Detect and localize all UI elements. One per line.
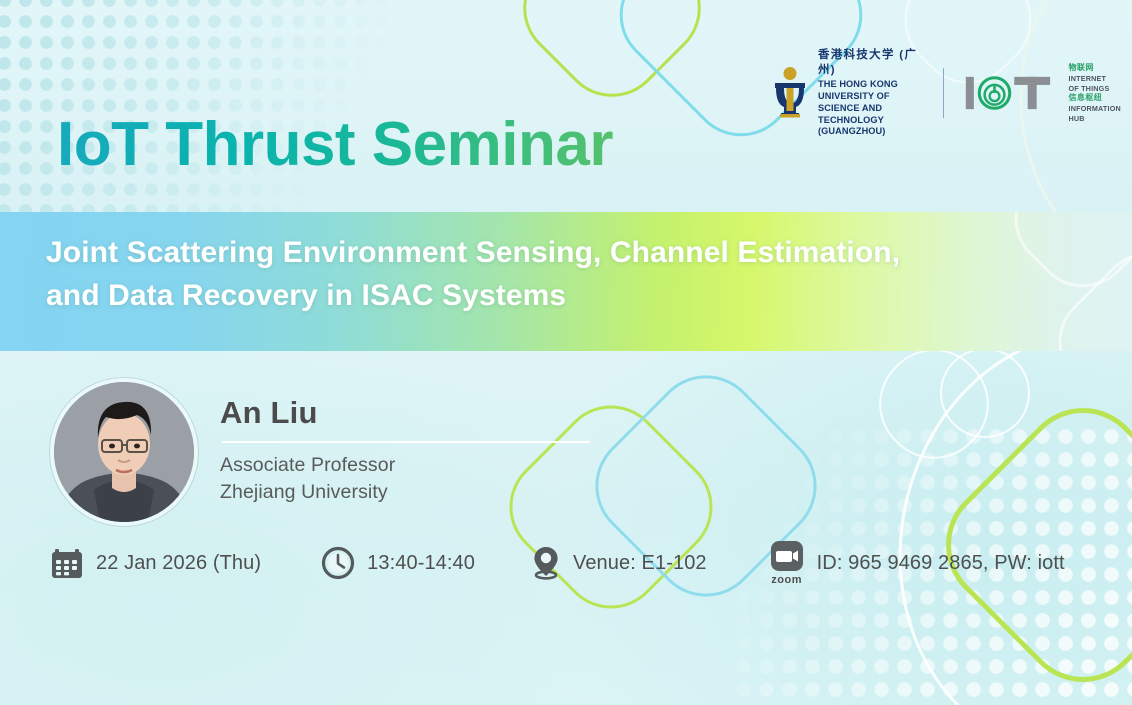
iot-en-line-1: INTERNET <box>1069 74 1107 83</box>
logo-divider <box>943 68 944 118</box>
event-venue-label: Venue: E1-102 <box>573 552 707 575</box>
series-title: IoT Thrust Seminar <box>57 112 613 177</box>
hkust-emblem-icon <box>772 66 808 120</box>
speaker-details: An Liu Associate Professor Zhejiang Univ… <box>220 378 590 526</box>
hkust-name-en-2: UNIVERSITY OF SCIENCE AND <box>818 91 890 113</box>
talk-title-line-1: Joint Scattering Environment Sensing, Ch… <box>46 236 900 269</box>
event-zoom: zoom ID: 965 9469 2865, PW: iott <box>769 540 1065 586</box>
iot-cn-line-2: 信息枢纽 <box>1069 93 1103 102</box>
logo-row: 香港科技大学 (广州) THE HONG KONG UNIVERSITY OF … <box>772 48 1132 138</box>
talk-title-line-2: and Data Recovery in ISAC Systems <box>46 279 566 312</box>
calendar-icon <box>50 546 84 580</box>
hkust-name-en-1: THE HONG KONG <box>818 79 898 89</box>
iot-hub-logo: 物联网 INTERNET OF THINGS 信息枢纽 INFORMATION … <box>964 63 1132 123</box>
event-details-row: 22 Jan 2026 (Thu) 13:40-14:40 <box>50 540 1065 586</box>
speaker-portrait-icon <box>54 382 194 522</box>
iot-en-line-2: OF THINGS <box>1069 84 1110 93</box>
event-time: 13:40-14:40 <box>321 546 475 580</box>
hkust-name-cn: 香港科技大学 (广州) <box>818 48 923 78</box>
event-date-label: 22 Jan 2026 (Thu) <box>96 552 261 575</box>
hkust-wordmark: 香港科技大学 (广州) THE HONG KONG UNIVERSITY OF … <box>818 48 923 138</box>
zoom-wordmark: zoom <box>771 574 802 586</box>
event-date: 22 Jan 2026 (Thu) <box>50 546 261 580</box>
event-time-label: 13:40-14:40 <box>367 552 475 575</box>
iot-wordmark-icon <box>964 71 1061 115</box>
iot-hub-tagline: 物联网 INTERNET OF THINGS 信息枢纽 INFORMATION … <box>1069 63 1132 123</box>
hkust-logo: 香港科技大学 (广州) THE HONG KONG UNIVERSITY OF … <box>772 48 923 138</box>
clock-icon <box>321 546 355 580</box>
location-pin-icon <box>531 545 561 581</box>
speaker-affiliation: Zhejiang University <box>220 481 388 503</box>
speaker-name-rule <box>222 441 590 443</box>
speaker-title: Associate Professor <box>220 454 395 476</box>
iot-en-line-3: INFORMATION HUB <box>1069 104 1121 123</box>
speaker-role: Associate Professor Zhejiang University <box>220 452 590 506</box>
iot-cn-line-1: 物联网 <box>1069 63 1094 72</box>
speaker-avatar <box>50 378 198 526</box>
speaker-name: An Liu <box>220 396 590 430</box>
seminar-poster: 香港科技大学 (广州) THE HONG KONG UNIVERSITY OF … <box>0 0 1132 705</box>
zoom-icon: zoom <box>769 540 805 586</box>
talk-title: Joint Scattering Environment Sensing, Ch… <box>46 232 1106 317</box>
event-venue: Venue: E1-102 <box>531 545 707 581</box>
hkust-name-en-3: TECHNOLOGY (GUANGZHOU) <box>818 115 885 137</box>
event-zoom-label: ID: 965 9469 2865, PW: iott <box>817 552 1065 575</box>
speaker-block: An Liu Associate Professor Zhejiang Univ… <box>50 378 590 526</box>
